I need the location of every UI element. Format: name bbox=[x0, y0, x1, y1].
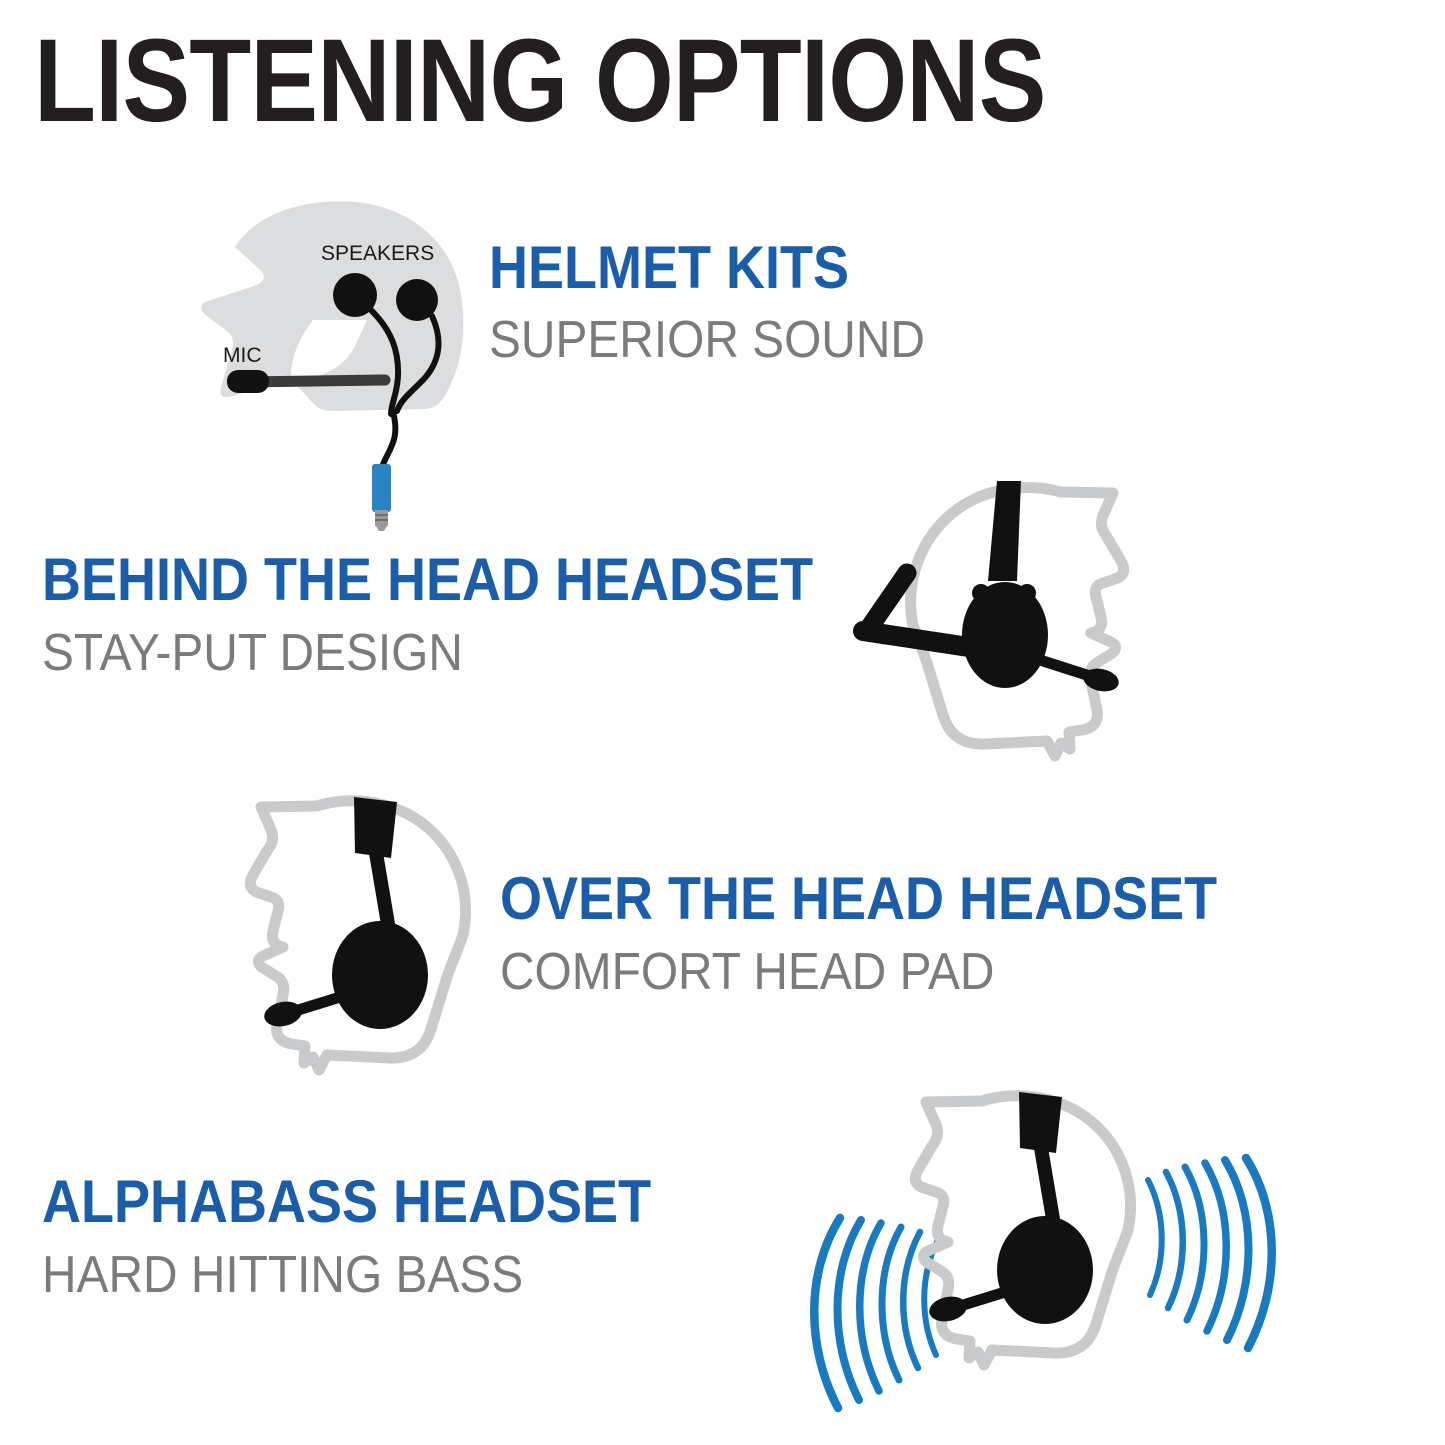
alphabass-headset-illustration bbox=[770, 1080, 1290, 1410]
jack-point bbox=[376, 526, 387, 531]
ear-cup bbox=[332, 921, 428, 1029]
section-over-the-head-headline: OVER THE HEAD HEADSET bbox=[500, 869, 1217, 929]
section-alphabass-text: ALPHABASS HEADSET HARD HITTING BASS bbox=[42, 1172, 719, 1301]
section-alphabass-headline: ALPHABASS HEADSET bbox=[42, 1172, 651, 1232]
section-behind-the-head-headline: BEHIND THE HEAD HEADSET bbox=[42, 550, 813, 610]
headset-cable bbox=[381, 412, 395, 470]
headband-arm bbox=[375, 847, 389, 930]
mic-capsule bbox=[927, 1293, 969, 1324]
sound-waves-right bbox=[1148, 1158, 1272, 1348]
jack-metal-tip bbox=[375, 510, 388, 526]
section-helmet-kits-headline: HELMET KITS bbox=[489, 238, 915, 298]
headband-arm bbox=[1040, 1142, 1054, 1225]
cup-hinge-right bbox=[1018, 584, 1036, 602]
section-helmet-kits-text: HELMET KITS SUPERIOR SOUND bbox=[489, 238, 963, 366]
section-behind-the-head-subline: STAY-PUT DESIGN bbox=[42, 627, 830, 679]
sound-waves-left bbox=[814, 1218, 938, 1408]
mic-capsule bbox=[227, 370, 269, 393]
mic-boom bbox=[960, 1293, 1002, 1306]
section-over-the-head-text: OVER THE HEAD HEADSET COMFORT HEAD PAD bbox=[500, 869, 1297, 998]
jack-ring-2 bbox=[375, 519, 388, 521]
page-title: LISTENING OPTIONS bbox=[34, 22, 1046, 140]
behind-head-band-upper bbox=[867, 573, 907, 631]
over-the-head-headset-illustration bbox=[225, 785, 525, 1085]
jack-body bbox=[372, 464, 391, 512]
section-over-the-head-subline: COMFORT HEAD PAD bbox=[500, 946, 1233, 998]
cup-hinge-left bbox=[972, 584, 990, 602]
jack-ring-1 bbox=[375, 514, 388, 516]
helmet-kit-illustration: SPEAKERS MIC bbox=[195, 190, 495, 530]
mic-label: MIC bbox=[223, 344, 262, 367]
mic-capsule bbox=[262, 998, 304, 1029]
section-behind-the-head-text: BEHIND THE HEAD HEADSET STAY-PUT DESIGN bbox=[42, 550, 899, 679]
behind-the-head-headset-illustration bbox=[845, 465, 1175, 775]
mic-boom bbox=[295, 998, 337, 1011]
ear-cup bbox=[997, 1216, 1093, 1324]
infographic-page: LISTENING OPTIONS SPEAKERS MIC bbox=[0, 0, 1445, 1445]
section-alphabass-subline: HARD HITTING BASS bbox=[42, 1249, 665, 1301]
section-helmet-kits-subline: SUPERIOR SOUND bbox=[489, 314, 925, 366]
speakers-label: SPEAKERS bbox=[321, 242, 434, 265]
